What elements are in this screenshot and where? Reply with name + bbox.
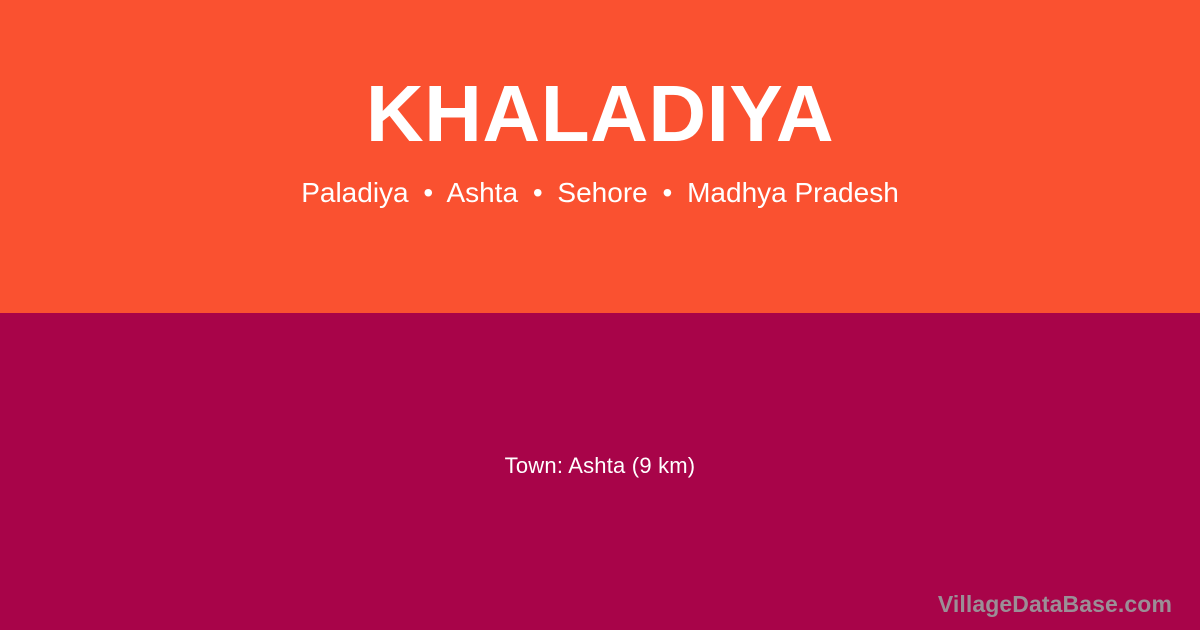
nearest-town-text: Town: Ashta (9 km) bbox=[505, 453, 696, 479]
breadcrumb: Paladiya • Ashta • Sehore • Madhya Prade… bbox=[301, 178, 899, 209]
breadcrumb-item-gram-panchayat: Paladiya bbox=[301, 177, 408, 208]
nearest-town-row: Town: Ashta (9 km) bbox=[0, 313, 1200, 630]
breadcrumb-separator-icon: • bbox=[656, 178, 680, 209]
village-info-card: KHALADIYA Paladiya • Ashta • Sehore • Ma… bbox=[0, 0, 1200, 630]
breadcrumb-item-block: Ashta bbox=[446, 177, 518, 208]
card-body: Town: Ashta (9 km) VillageDataBase.com bbox=[0, 313, 1200, 630]
page-title: KHALADIYA bbox=[366, 74, 834, 154]
breadcrumb-item-state: Madhya Pradesh bbox=[687, 177, 899, 208]
breadcrumb-item-district: Sehore bbox=[557, 177, 647, 208]
breadcrumb-separator-icon: • bbox=[416, 178, 440, 209]
breadcrumb-separator-icon: • bbox=[526, 178, 550, 209]
card-header: KHALADIYA Paladiya • Ashta • Sehore • Ma… bbox=[0, 0, 1200, 313]
site-watermark: VillageDataBase.com bbox=[938, 591, 1172, 618]
